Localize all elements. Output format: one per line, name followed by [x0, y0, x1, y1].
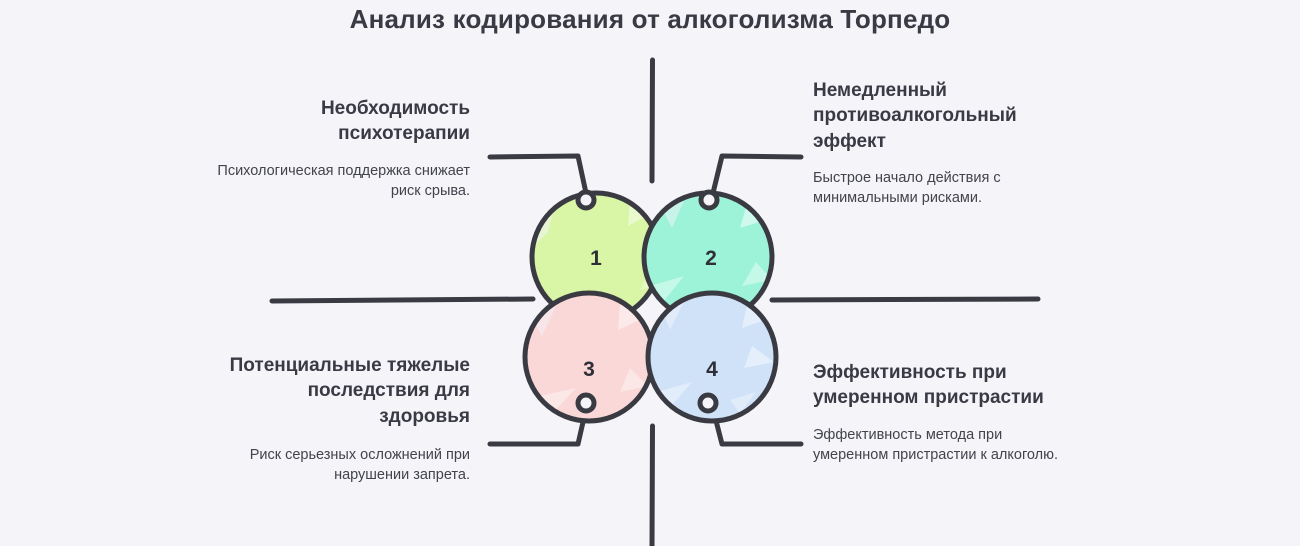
venn-circle-1-number: 1 — [590, 247, 602, 270]
quadrant-bottom-right-title: Эффективность при умеренном пристрастии — [813, 360, 1078, 411]
quadrant-bottom-left-title: Потенциальные тяжелые последствия для зд… — [215, 353, 470, 429]
quadrant-top-left-description: Психологическая поддержка снижает риск с… — [215, 161, 470, 202]
axis-line-horizontal-left — [272, 299, 533, 301]
quadrant-top-right-description: Быстрое начало действия с минимальными р… — [813, 168, 1073, 209]
venn-diagram: 1 2 3 — [0, 0, 1300, 546]
venn-circle-1-connector-dot — [578, 192, 594, 208]
quadrant-top-left-title: Необходимость психотерапии — [215, 96, 470, 147]
axis-line-horizontal-right — [772, 299, 1038, 300]
quadrant-bottom-left: Потенциальные тяжелые последствия для зд… — [215, 353, 470, 486]
venn-circle-2-connector-dot — [701, 192, 717, 208]
connector-top-right — [713, 156, 801, 193]
connector-top-left — [490, 156, 586, 193]
venn-circle-4[interactable]: 4 — [648, 293, 776, 421]
venn-circle-3-connector-dot — [578, 395, 594, 411]
venn-circle-3[interactable]: 3 — [525, 293, 653, 421]
infographic-canvas: Анализ кодирования от алкоголизма Торпед… — [0, 0, 1300, 546]
quadrant-bottom-right-description: Эффективность метода при умеренном прист… — [813, 425, 1078, 466]
quadrant-top-left: Необходимость психотерапии Психологическ… — [215, 96, 470, 202]
quadrant-bottom-right: Эффективность при умеренном пристрастии … — [813, 360, 1078, 466]
venn-circle-2-number: 2 — [705, 247, 717, 270]
venn-circle-4-number: 4 — [706, 358, 718, 381]
axis-line-vertical-bottom — [652, 426, 653, 546]
quadrant-top-right-title: Немедленный противоалкогольный эффект — [813, 78, 1073, 154]
quadrant-top-right: Немедленный противоалкогольный эффект Бы… — [813, 78, 1073, 209]
venn-circle-3-number: 3 — [583, 358, 595, 381]
quadrant-bottom-left-description: Риск серьезных осложнений при нарушении … — [215, 445, 470, 486]
axis-line-vertical-top — [652, 60, 653, 181]
venn-circle-4-connector-dot — [700, 395, 716, 411]
